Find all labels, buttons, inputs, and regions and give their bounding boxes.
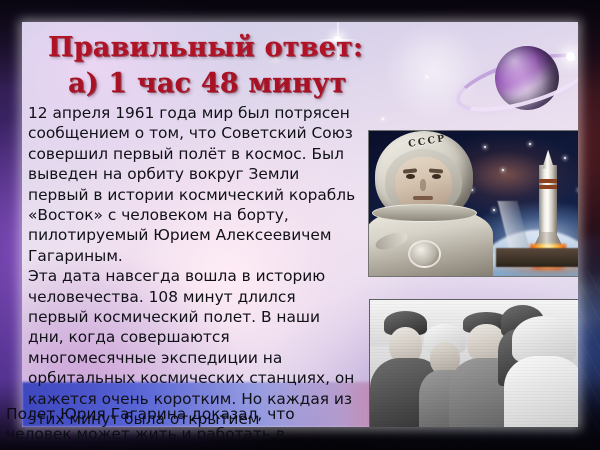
photo1-cosmonaut: СССР — [368, 130, 493, 277]
star-icon — [382, 118, 384, 120]
photo1-launch-pad — [496, 248, 578, 267]
photo1-rocket — [516, 148, 578, 267]
title-line-2: а) 1 час 48 минут — [68, 68, 347, 99]
slide-screenshot: Правильный ответ: а) 1 час 48 минут 12 а… — [0, 0, 600, 450]
ringed-planet-icon — [454, 38, 578, 120]
photo-gagarin-with-villagers — [369, 299, 578, 427]
photo1-neck-ring — [372, 204, 477, 223]
body-text: 12 апреля 1961 года мир был потрясен соо… — [28, 103, 356, 427]
paragraph-2: Эта дата навсегда вошла в историю челове… — [28, 266, 356, 427]
photo1-rocket-band — [539, 179, 556, 183]
photo2-film-grain — [370, 300, 578, 427]
photo1-eyebrow — [429, 168, 443, 173]
photo1-eye — [432, 174, 441, 179]
photo1-mouth — [413, 196, 432, 200]
tail-paragraph: Полет Юрия Гагарина доказал, что человек… — [6, 404, 346, 445]
photo1-suit-dial — [408, 240, 440, 268]
title-line-1: Правильный ответ: — [48, 32, 363, 63]
photo-gagarin-spacesuit-rocket: СССР — [368, 130, 578, 277]
planet-companion-star-icon — [566, 52, 575, 61]
star-icon — [426, 76, 428, 78]
photo1-rocket-body — [539, 165, 556, 239]
paragraph-1: 12 апреля 1961 года мир был потрясен соо… — [28, 103, 356, 266]
photo1-rocket-nose — [542, 150, 554, 169]
presentation-slide: Правильный ответ: а) 1 час 48 минут 12 а… — [22, 22, 578, 427]
photo1-rocket-band — [539, 185, 556, 189]
